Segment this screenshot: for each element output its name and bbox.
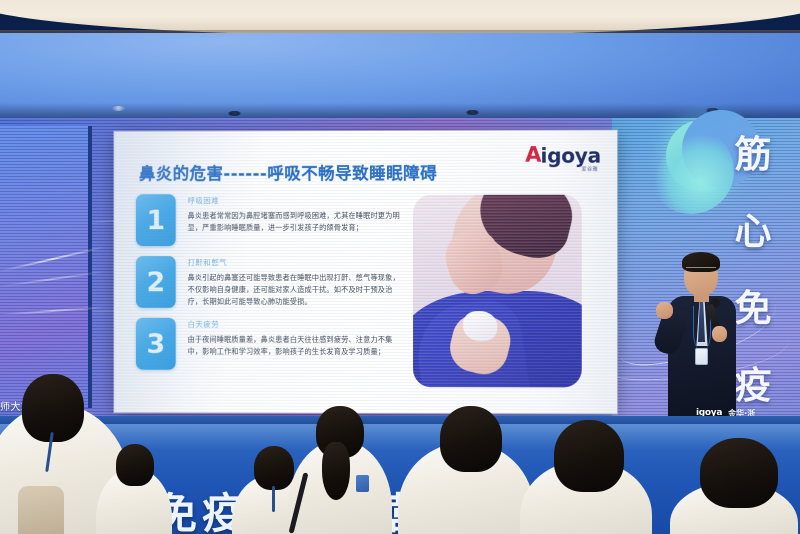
point-body: 鼻炎患者常常因为鼻腔堵塞而感到呼吸困难，尤其在睡眠时更为明显，严重影响睡眠质量，… (188, 210, 405, 234)
chair (18, 486, 64, 534)
point-heading: 白天疲劳 (188, 319, 405, 330)
point-number-badge: 2 (136, 256, 176, 308)
presenter-fist (656, 302, 673, 319)
slide-title: 鼻炎的危害------呼吸不畅导致睡眠障碍 (139, 160, 437, 184)
projected-slide: 鼻炎的危害------呼吸不畅导致睡眠障碍 A igoya 爱谷雅 1 呼吸困难… (114, 130, 617, 413)
calligraphy-char-2: 心 (735, 213, 772, 250)
panel-line (0, 306, 105, 315)
point-body: 由于夜间睡眠质量差，鼻炎患者白天往往感到疲劳、注意力不集中，影响工作和学习效率，… (188, 334, 405, 358)
point-text: 呼吸困难 鼻炎患者常常因为鼻腔堵塞而感到呼吸困难，尤其在睡眠时更为明显，严重影响… (188, 194, 405, 246)
glasses-icon (686, 267, 716, 274)
spotlight (466, 110, 479, 115)
panel-line (0, 271, 105, 287)
calligraphy-char-1: 筋 (735, 136, 772, 173)
panel-line (1, 246, 104, 271)
audience-head (700, 438, 778, 508)
point-number-badge: 1 (136, 194, 176, 246)
slide-point: 3 白天疲劳 由于夜间睡眠质量差，鼻炎患者白天往往感到疲劳、注意力不集中，影响工… (136, 318, 405, 370)
presenter (660, 252, 746, 420)
left-led-panel (0, 126, 92, 408)
logo-subtext: 爱谷雅 (582, 166, 598, 173)
photo-tissue (463, 311, 497, 341)
point-text: 打鼾和憋气 鼻炎引起的鼻塞还可能导致患者在睡眠中出现打鼾、憋气等现象，不仅影响自… (188, 256, 405, 308)
slide-point: 2 打鼾和憋气 鼻炎引起的鼻塞还可能导致患者在睡眠中出现打鼾、憋气等现象，不仅影… (136, 256, 405, 308)
upper-wall (0, 33, 800, 125)
spotlight (112, 106, 125, 111)
photo-hair (471, 195, 580, 265)
audience-head (554, 420, 624, 492)
slide-point: 1 呼吸困难 鼻炎患者常常因为鼻腔堵塞而感到呼吸困难，尤其在睡眠时更为明显，严重… (136, 194, 405, 246)
photo-arm (413, 296, 533, 387)
spotlight (228, 111, 241, 116)
photo-hand-lower (445, 309, 516, 380)
point-heading: 呼吸困难 (188, 195, 405, 206)
aigoya-logo: A igoya 爱谷雅 (525, 144, 601, 165)
logo-wordmark: igoya (541, 145, 601, 165)
audience-lanyard (272, 486, 275, 512)
presenter-mic-hand (712, 326, 727, 342)
photo-shirt (413, 291, 582, 387)
point-text: 白天疲劳 由于夜间睡眠质量差，鼻炎患者白天往往感到疲劳、注意力不集中，影响工作和… (188, 318, 405, 370)
point-body: 鼻炎引起的鼻塞还可能导致患者在睡眠中出现打鼾、憋气等现象，不仅影响自身健康，还可… (188, 272, 405, 308)
logo-initial: A (525, 145, 540, 166)
slide-photo-nose-pinch (413, 195, 582, 388)
audience-head (440, 406, 502, 472)
point-number-badge: 3 (136, 318, 176, 370)
audience-ponytail (322, 442, 350, 500)
photo-ear (542, 219, 564, 247)
photo-head (443, 195, 568, 303)
audience-head (254, 446, 294, 490)
point-heading: 打鼾和憋气 (188, 257, 405, 268)
audience-head (116, 444, 154, 486)
slide-points-list: 1 呼吸困难 鼻炎患者常常因为鼻腔堵塞而感到呼吸困难，尤其在睡眠时更为明显，严重… (136, 194, 405, 380)
presenter-badge (695, 348, 708, 365)
audience-badge (356, 475, 369, 492)
conference-photo-scene: 师大站 筋 心 免 疫 鼻炎的危害------呼吸不畅导致睡眠障碍 A igoy… (0, 0, 800, 534)
photo-hand-at-nose (439, 224, 510, 300)
